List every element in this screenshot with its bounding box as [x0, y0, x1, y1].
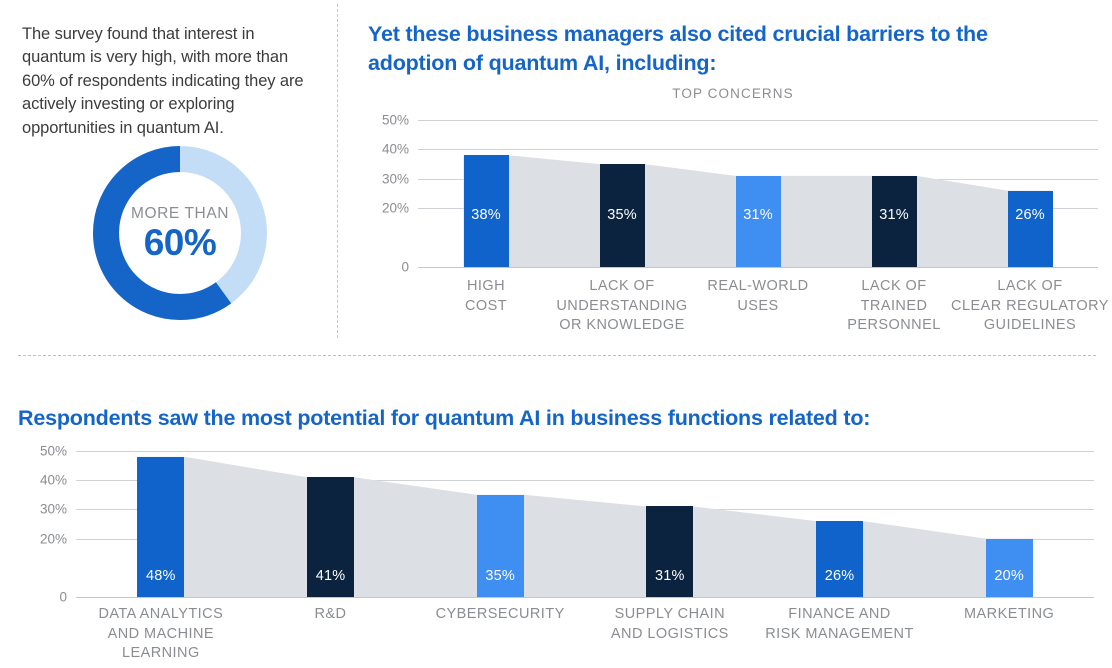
category-label: CYBERSECURITY — [404, 605, 596, 625]
category-label: R&D — [235, 605, 427, 625]
chart-title-top-concerns: TOP CONCERNS — [368, 86, 1098, 101]
category-label: LACK OF TRAINED PERSONNEL — [815, 277, 973, 336]
intro-panel: The survey found that interest in quantu… — [0, 0, 330, 340]
category-label: HIGH COST — [407, 277, 565, 316]
bar[interactable]: 48% — [137, 457, 184, 597]
top-concerns-chart: TOP CONCERNS 50%40%30%20%038%HIGH COST35… — [368, 86, 1098, 336]
category-label: LACK OF UNDERSTANDING OR KNOWLEDGE — [543, 277, 701, 336]
category-label: DATA ANALYTICS AND MACHINE LEARNING — [65, 605, 257, 664]
category-label: LACK OF CLEAR REGULATORY GUIDELINES — [951, 277, 1109, 336]
category-label: MARKETING — [913, 605, 1105, 625]
bar-value-label: 35% — [600, 207, 645, 223]
y-axis-tick-label: 50% — [382, 113, 409, 128]
donut-svg — [90, 143, 270, 323]
horizontal-dashed-divider — [18, 355, 1096, 356]
category-label: FINANCE AND RISK MANAGEMENT — [744, 605, 936, 644]
y-axis-tick-label: 0 — [401, 260, 409, 275]
bar[interactable]: 20% — [986, 539, 1033, 597]
bar[interactable]: 41% — [307, 477, 354, 597]
axis-baseline — [418, 267, 1098, 268]
bar-value-label: 31% — [646, 568, 693, 584]
bar-value-label: 26% — [1008, 207, 1053, 223]
plot-area-bottom: 50%40%30%20%048%DATA ANALYTICS AND MACHI… — [76, 451, 1094, 597]
bar[interactable]: 35% — [600, 164, 645, 267]
bar-value-label: 48% — [137, 568, 184, 584]
bar[interactable]: 31% — [646, 506, 693, 597]
category-label: SUPPLY CHAIN AND LOGISTICS — [574, 605, 766, 644]
bar[interactable]: 35% — [477, 495, 524, 597]
intro-paragraph: The survey found that interest in quantu… — [22, 23, 314, 141]
plot-area-top: 50%40%30%20%038%HIGH COST35%LACK OF UNDE… — [418, 120, 1098, 267]
bar-value-label: 20% — [986, 568, 1033, 584]
bar[interactable]: 31% — [736, 176, 781, 267]
y-axis-tick-label: 30% — [40, 502, 67, 517]
bar-value-label: 35% — [477, 568, 524, 584]
y-axis-tick-label: 30% — [382, 171, 409, 186]
business-functions-chart: 50%40%30%20%048%DATA ANALYTICS AND MACHI… — [18, 430, 1098, 668]
y-axis-tick-label: 50% — [40, 444, 67, 459]
vertical-dashed-divider — [337, 4, 338, 338]
category-label: REAL-WORLD USES — [679, 277, 837, 316]
bar[interactable]: 38% — [464, 155, 509, 267]
bar[interactable]: 26% — [1008, 191, 1053, 267]
axis-baseline — [76, 597, 1094, 598]
y-axis-tick-label: 20% — [40, 531, 67, 546]
bar-value-label: 31% — [736, 207, 781, 223]
bar[interactable]: 26% — [816, 521, 863, 597]
bar-value-label: 31% — [872, 207, 917, 223]
bar[interactable]: 31% — [872, 176, 917, 267]
donut-chart: MORE THAN 60% — [90, 143, 270, 323]
top-section-heading: Yet these business managers also cited c… — [368, 20, 998, 78]
bar-value-label: 38% — [464, 207, 509, 223]
y-axis-tick-label: 20% — [382, 201, 409, 216]
bar-value-label: 41% — [307, 568, 354, 584]
bottom-section-heading: Respondents saw the most potential for q… — [18, 404, 1078, 433]
y-axis-tick-label: 40% — [382, 142, 409, 157]
trend-area-polygon — [137, 457, 1032, 597]
y-axis-tick-label: 40% — [40, 473, 67, 488]
bar-value-label: 26% — [816, 568, 863, 584]
y-axis-tick-label: 0 — [59, 590, 67, 605]
trend-area-shape — [76, 451, 1094, 597]
